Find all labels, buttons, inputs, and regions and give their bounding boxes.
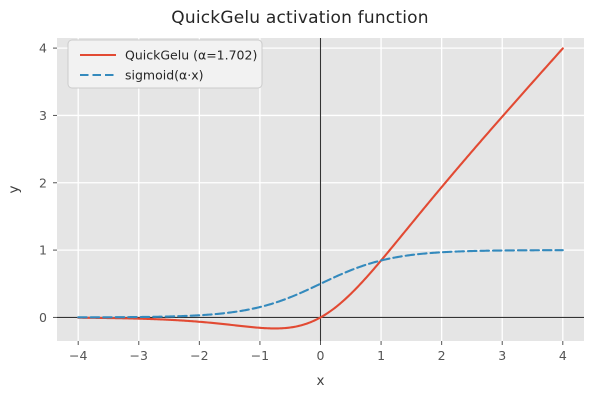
x-tick-label: −4	[69, 348, 87, 363]
y-tick-label: 2	[39, 175, 47, 190]
legend-box: QuickGelu (α=1.702)sigmoid(α·x)	[68, 40, 262, 88]
x-tick-label: 1	[377, 348, 385, 363]
chart-figure: QuickGelu activation function −4−3−2−101…	[0, 0, 600, 400]
legend-label-1: sigmoid(α·x)	[125, 68, 204, 83]
y-axis-label: y	[6, 186, 22, 194]
x-tick-label: −1	[251, 348, 269, 363]
x-tick-label: 0	[317, 348, 325, 363]
y-tick-label: 1	[39, 243, 47, 258]
y-tick-label: 3	[39, 108, 47, 123]
x-tick-label: −3	[130, 348, 148, 363]
plot-canvas: −4−3−2−10123401234 xy QuickGelu (α=1.702…	[0, 0, 600, 400]
x-axis-label: x	[317, 373, 325, 389]
y-tick-label: 0	[39, 310, 47, 325]
y-tick-label: 4	[39, 41, 47, 56]
x-tick-label: 2	[438, 348, 446, 363]
legend-label-0: QuickGelu (α=1.702)	[125, 48, 257, 63]
x-tick-label: 4	[559, 348, 567, 363]
x-tick-label: 3	[498, 348, 506, 363]
x-tick-label: −2	[190, 348, 208, 363]
